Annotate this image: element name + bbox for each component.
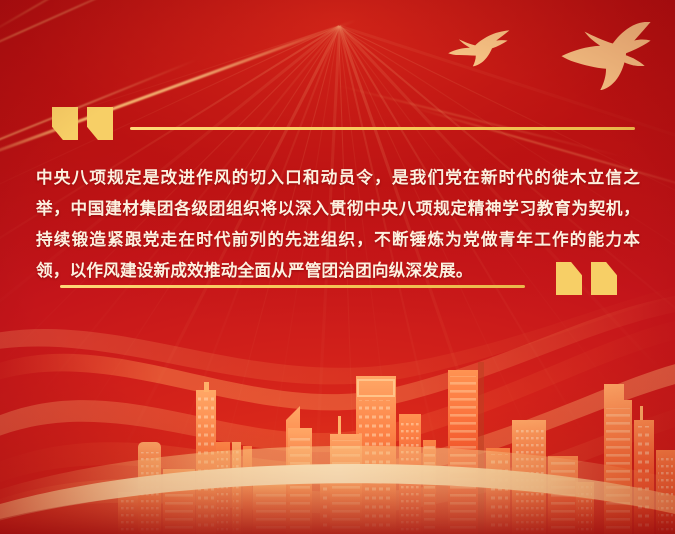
quote-glyph — [591, 262, 617, 295]
quote-block: 中央八项规定是改进作风的切入口和动员令，是我们党在新时代的徙木立信之举，中国建材… — [0, 0, 675, 320]
divider-top — [130, 127, 635, 130]
quote-glyph — [556, 262, 582, 295]
quote-glyph — [52, 107, 78, 140]
quote-text: 中央八项规定是改进作风的切入口和动员令，是我们党在新时代的徙木立信之举，中国建材… — [36, 162, 640, 286]
divider-bottom — [60, 285, 525, 288]
city-skyline — [0, 324, 675, 534]
poster-canvas: 中央八项规定是改进作风的切入口和动员令，是我们党在新时代的徙木立信之举，中国建材… — [0, 0, 675, 534]
golden-arc — [0, 424, 675, 534]
open-quote-icon — [52, 107, 113, 140]
quote-glyph — [87, 107, 113, 140]
close-quote-icon — [556, 262, 617, 295]
